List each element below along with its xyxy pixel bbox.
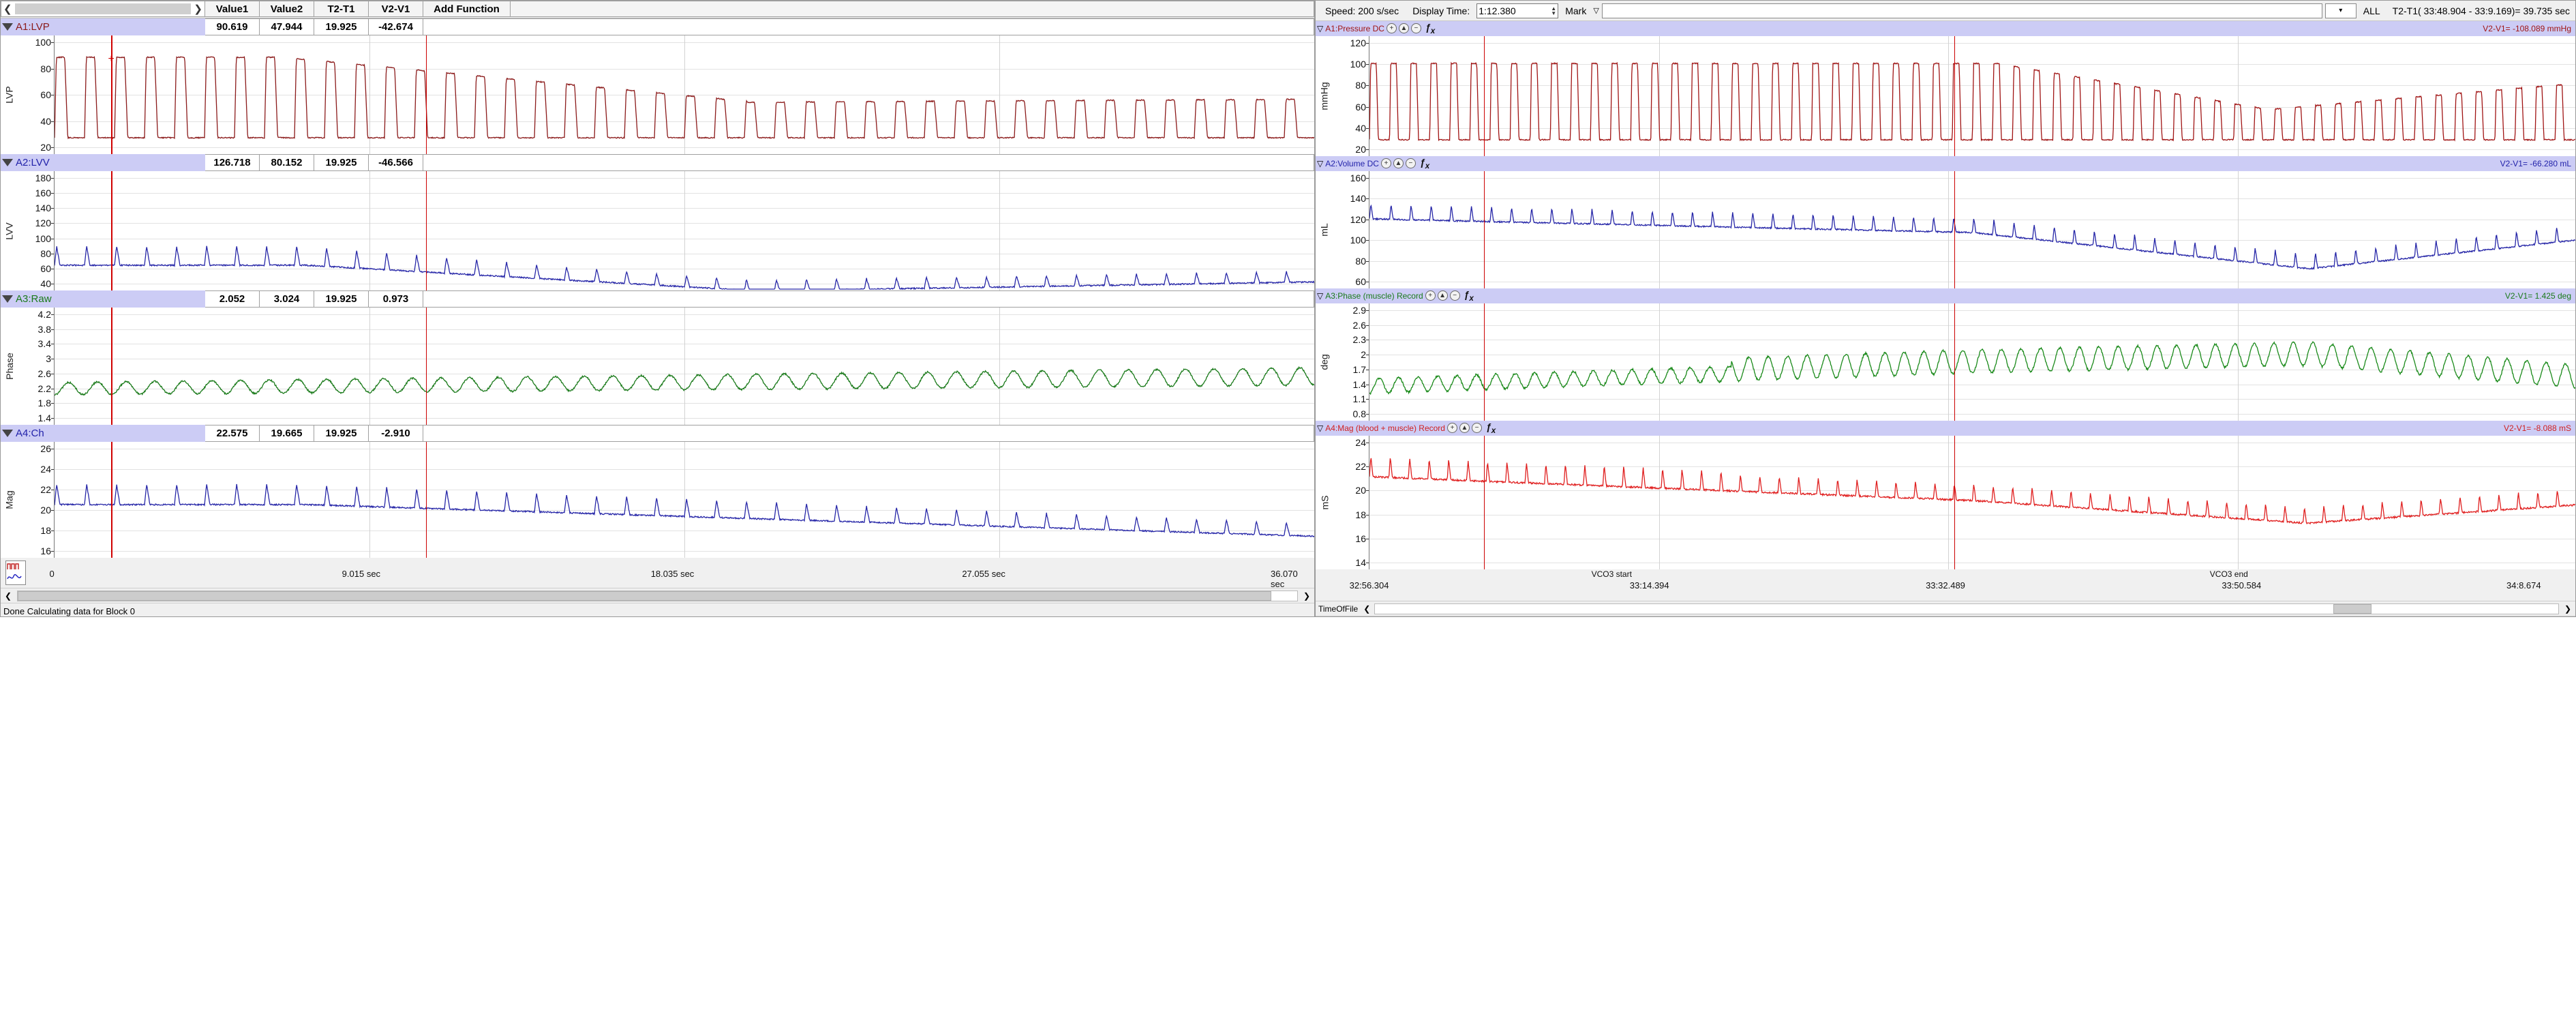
plot-row: mS242220181614 [1316,436,2575,569]
x-tick-label: 32:56.304 [1350,580,1389,591]
waveform-canvas[interactable] [54,171,1314,290]
a1-value1: 90.619 [205,18,260,35]
collapse-triangle-icon[interactable]: ▽ [1317,24,1323,33]
right-a2-v2v1: V2-V1= -66.280 mL [2500,159,2575,168]
y-axis-label: deg [1316,303,1333,421]
left-horizontal-scrollbar[interactable]: ❮ ❯ [1,588,1314,603]
channel-name-a2[interactable]: A2:LVV [1,154,205,171]
collapse-triangle-icon[interactable] [2,23,13,31]
waveform-trace [55,308,1314,425]
a3-t2t1: 19.925 [314,290,369,308]
display-time-input[interactable]: 1:12.380 ▲▼ [1476,3,1558,18]
plot-row: LVV180160140120100806040 [1,171,1314,290]
collapse-triangle-icon[interactable]: ▽ [1317,159,1323,168]
x-tick-label: 27.055 sec [962,569,1005,579]
waveform-trace [1369,436,2575,569]
channel-value-row-a4: A4:Ch 22.575 19.665 19.925 -2.910 [1,425,1314,442]
column-header-t2t1[interactable]: T2-T1 [314,1,369,17]
a2-row-filler [423,154,1314,171]
y-tick-label: 18 [40,525,51,536]
y-tick-label: 20 [40,142,51,153]
y-tick-label: 160 [1350,173,1366,183]
waveform-canvas[interactable] [1369,436,2575,569]
y-axis-ticks: 262422201816 [18,442,54,558]
waveform-canvas[interactable] [1369,171,2575,288]
x-tick-label: 34:8.674 [2506,580,2541,591]
measurement-cursor[interactable] [111,442,112,558]
function-icon[interactable]: ƒx [1484,421,1498,435]
y-tick-label: 100 [1350,59,1366,70]
x-tick-label: 9.015 sec [342,569,380,579]
y-tick-label: 0.8 [1353,408,1366,419]
y-tick-label: 2.6 [38,368,51,379]
measurement-cursor[interactable] [1954,303,1955,421]
measurement-cursor[interactable] [1484,171,1485,288]
a1-v2v1: -42.674 [369,18,423,35]
left-acquisition-window: ❮ ❯ Value1 Value2 T2-T1 V2-V1 Add Functi… [0,0,1315,617]
y-tick-label: 60 [1355,102,1366,113]
channel-name-a4[interactable]: A4:Ch [1,425,205,442]
t2-t1-readout: T2-T1( 33:48.904 - 33:9.169)= 39.735 sec [2387,5,2575,16]
plot-row: deg2.92.62.321.71.41.10.8 [1316,303,2575,421]
collapse-triangle-icon[interactable] [2,430,13,437]
y-tick-label: 2 [1361,349,1366,360]
right-channel-name-a1[interactable]: ▽ A1:Pressure DC + ▲ − ƒx [1316,22,1437,35]
measurement-cursor[interactable] [426,35,427,154]
plot-row: LVP10080604020+ [1,35,1314,154]
acquisition-windows: ❮ ❯ Value1 Value2 T2-T1 V2-V1 Add Functi… [0,0,2576,617]
y-tick-label: 1.1 [1353,393,1366,404]
measurement-cursor[interactable] [426,442,427,558]
chevron-left-icon[interactable]: ❮ [1,591,16,601]
a4-value2: 19.665 [260,425,314,442]
collapse-triangle-icon[interactable] [2,295,13,303]
y-tick-label: 80 [1355,256,1366,267]
a1-t2t1: 19.925 [314,18,369,35]
waveform-trace [55,442,1314,558]
y-tick-label: 80 [40,63,51,74]
channel-value-row-a3: A3:Raw 2.052 3.024 19.925 0.973 [1,290,1314,308]
y-axis-ticks: 10080604020 [18,35,54,154]
results-tables: SWINE assessment of IVCO quality (N=7)Me… [0,617,2576,1031]
column-header-value2[interactable]: Value2 [260,1,314,17]
time-annotation: VCO3 start [1592,569,1632,579]
left-status-bar: Done Calculating data for Block 0 [1,603,1314,617]
waveform-trace [1369,303,2575,421]
left-time-labels: 09.015 sec18.035 sec27.055 sec36.070 sec [31,558,1314,585]
measurement-cursor[interactable] [426,171,427,290]
display-time-value: 1:12.380 [1479,5,1516,16]
right-acquisition-window: Speed: 200 s/sec Display Time: 1:12.380 … [1315,0,2576,617]
y-tick-label: 24 [40,464,51,475]
right-plot-a1[interactable]: mmHg12010080604020 [1316,36,2575,156]
y-tick-label: 120 [1350,38,1366,48]
right-plot-a4[interactable]: mS242220181614 [1316,436,2575,569]
y-tick-label: 4.2 [38,309,51,320]
channel-name-a1[interactable]: A1:LVP [1,18,205,35]
zoom-out-icon[interactable]: − [1411,23,1421,33]
a2-value2: 80.152 [260,154,314,171]
display-time-label: Display Time: [1406,5,1476,16]
a2-value1: 126.718 [205,154,260,171]
y-tick-label: 140 [35,203,51,213]
y-tick-label: 18 [1355,509,1366,520]
zoom-in-icon[interactable]: + [1381,158,1391,168]
y-tick-label: 60 [40,263,51,274]
all-label: ALL [2357,5,2387,16]
y-tick-label: 60 [1355,276,1366,287]
measurement-cursor[interactable] [1954,436,1955,569]
x-tick-label: 18.035 sec [651,569,695,579]
y-tick-label: 3 [46,353,51,364]
zoom-out-icon[interactable]: − [1472,423,1482,433]
y-tick-label: 100 [35,37,51,48]
plot-row: mmHg12010080604020 [1316,36,2575,156]
y-axis-ticks: 1601401201008060 [1333,171,1369,288]
x-tick-label: 0 [50,569,55,579]
spinner-arrows-icon[interactable]: ▲▼ [1551,6,1556,16]
waveform-canvas[interactable]: + [54,35,1314,154]
plot-row: Mag262422201816 [1,442,1314,558]
x-tick-label: 36.070 sec [1271,569,1298,589]
y-tick-label: 24 [1355,437,1366,448]
y-tick-label: 60 [40,89,51,100]
right-channel-name-a3[interactable]: ▽ A3:Phase (muscle) Record + ▲ − ƒx [1316,289,1476,303]
y-tick-label: 26 [40,443,51,454]
right-channel-header-a2[interactable]: ▽ A2:Volume DC + ▲ − ƒx V2-V1= -66.280 m… [1316,156,2575,171]
cursor-marker-icon: + [108,54,114,65]
y-tick-label: 3.4 [38,338,51,349]
zoom-out-icon[interactable]: − [1450,290,1460,301]
waveform-canvas[interactable] [1369,303,2575,421]
y-tick-label: 100 [1350,235,1366,245]
left-scroll-track[interactable] [17,591,1298,601]
waveform-trace [55,171,1314,290]
y-axis-label: mL [1316,171,1333,288]
a1-value2: 47.944 [260,18,314,35]
y-tick-label: 22 [40,484,51,495]
measurement-cursor[interactable] [1954,171,1955,288]
waveform-trace [1369,171,2575,288]
y-axis-ticks: 180160140120100806040 [18,171,54,290]
a4-value1: 22.575 [205,425,260,442]
channel-name-a3[interactable]: A3:Raw [1,290,205,308]
channel-scroll-control[interactable]: ❮ ❯ [1,1,205,17]
y-tick-label: 2.9 [1353,305,1366,316]
a2-v2v1: -46.566 [369,154,423,171]
left-plot-a1[interactable]: LVP10080604020+ [1,35,1314,154]
waveform-trace [1369,36,2575,156]
a4-v2v1: -2.910 [369,425,423,442]
measurement-cursor[interactable] [1484,303,1485,421]
a3-value1: 2.052 [205,290,260,308]
right-a1-v2v1: V2-V1= -108.089 mmHg [2483,24,2575,33]
plot-row: mL1601401201008060 [1316,171,2575,288]
y-tick-label: 2.2 [38,383,51,394]
autoscale-icon[interactable]: ▲ [1438,290,1448,301]
y-tick-label: 2.3 [1353,334,1366,345]
y-tick-label: 80 [1355,80,1366,91]
autoscale-icon[interactable]: ▲ [1399,23,1409,33]
y-tick-label: 16 [40,546,51,556]
y-tick-label: 1.4 [1353,379,1366,390]
waveform-canvas[interactable] [54,308,1314,425]
x-tick-label: 33:50.584 [2222,580,2261,591]
y-tick-label: 22 [1355,461,1366,472]
function-icon[interactable]: ƒx [1462,289,1476,303]
y-axis-label: mmHg [1316,36,1333,156]
y-tick-label: 3.8 [38,324,51,335]
y-tick-label: 80 [40,248,51,259]
channel-value-row-a2: A2:LVV 126.718 80.152 19.925 -46.566 [1,154,1314,171]
right-channel-header-a4[interactable]: ▽ A4:Mag (blood + muscle) Record + ▲ − ƒ… [1316,421,2575,436]
y-tick-label: 20 [1355,485,1366,496]
scroll-thumb[interactable] [15,3,192,14]
left-plot-a4[interactable]: Mag262422201816 [1,442,1314,558]
y-axis-ticks: 12010080604020 [1333,36,1369,156]
y-tick-label: 1.8 [38,398,51,408]
column-header-value1[interactable]: Value1 [205,1,260,17]
a2-t2t1: 19.925 [314,154,369,171]
right-channel-header-a3[interactable]: ▽ A3:Phase (muscle) Record + ▲ − ƒx V2-V… [1316,288,2575,303]
chevron-right-icon[interactable]: ❯ [2560,604,2575,614]
right-toolbar: Speed: 200 s/sec Display Time: 1:12.380 … [1316,1,2575,21]
y-axis-ticks: 242220181614 [1333,436,1369,569]
right-channel-name-a2[interactable]: ▽ A2:Volume DC + ▲ − ƒx [1316,157,1431,170]
autoscale-icon[interactable]: ▲ [1459,423,1470,433]
right-a3-v2v1: V2-V1= 1.425 deg [2505,291,2575,301]
x-tick-label: 33:32.489 [1926,580,1965,591]
y-tick-label: 2.6 [1353,320,1366,331]
channel-value-row-a1: A1:LVP 90.619 47.944 19.925 -42.674 [1,18,1314,35]
right-channel-name-a4[interactable]: ▽ A4:Mag (blood + muscle) Record + ▲ − ƒ… [1316,421,1498,435]
y-tick-label: 1.7 [1353,364,1366,375]
right-plot-a2[interactable]: mL1601401201008060 [1316,171,2575,288]
chevron-right-icon[interactable]: ❯ [194,4,202,14]
a4-row-filler [423,425,1314,442]
measurement-cursor[interactable] [1954,36,1955,156]
mark-label: Mark [1558,5,1593,16]
measurement-cursor[interactable] [111,308,112,425]
y-tick-label: 40 [1355,123,1366,134]
left-status-text: Done Calculating data for Block 0 [3,606,135,616]
zoom-in-icon[interactable]: + [1387,23,1397,33]
right-scroll-track[interactable] [1374,603,2559,614]
zoom-out-icon[interactable]: − [1406,158,1416,168]
measurement-cursor[interactable] [1484,36,1485,156]
autoscale-icon[interactable]: ▲ [1393,158,1404,168]
y-tick-label: 40 [40,116,51,127]
y-tick-label: 40 [40,278,51,289]
chevron-down-icon[interactable]: ▽ [1593,6,1598,15]
a3-v2v1: 0.973 [369,290,423,308]
y-axis-label: mS [1316,436,1333,569]
chevron-left-icon[interactable]: ❮ [3,4,12,14]
right-horizontal-scrollbar[interactable]: TimeOfFile ❮ ❯ [1316,601,2575,616]
left-plot-a2[interactable]: LVV180160140120100806040 [1,171,1314,290]
function-icon[interactable]: ƒx [1418,157,1431,170]
y-axis-label: LVV [1,171,18,290]
zoom-in-icon[interactable]: + [1447,423,1457,433]
y-axis-label: Mag [1,442,18,558]
a1-row-filler [423,18,1314,35]
y-axis-ticks: 4.23.83.432.62.21.81.4 [18,308,54,425]
function-icon[interactable]: ƒx [1423,22,1437,35]
right-time-axis: 32:56.30433:14.39433:32.48933:50.58434:8… [1316,569,2575,601]
y-axis-label: LVP [1,35,18,154]
plot-row: Phase4.23.83.432.62.21.81.4 [1,308,1314,425]
waveform-trace [55,35,1314,154]
mark-input[interactable] [1602,3,2322,18]
right-channel-header-a1[interactable]: ▽ A1:Pressure DC + ▲ − ƒx V2-V1= -108.08… [1316,21,2575,36]
time-of-file-label: TimeOfFile [1316,604,1361,614]
left-function-toolbar: ❮ ❯ Value1 Value2 T2-T1 V2-V1 Add Functi… [1,1,1314,18]
right-scroll-thumb[interactable] [2333,604,2372,614]
a3-row-filler [423,290,1314,308]
y-tick-label: 16 [1355,533,1366,544]
y-tick-label: 160 [35,188,51,198]
chevron-right-icon[interactable]: ❯ [1299,591,1314,601]
zoom-in-icon[interactable]: + [1425,290,1436,301]
toolbar-filler [511,1,1314,17]
column-header-v2v1[interactable]: V2-V1 [369,1,423,17]
right-a4-v2v1: V2-V1= -8.088 mS [2504,423,2575,433]
collapse-triangle-icon[interactable]: ▽ [1317,291,1323,301]
collapse-triangle-icon[interactable]: ▽ [1317,423,1323,433]
measurement-cursor[interactable] [1484,436,1485,569]
add-function-button[interactable]: Add Function [423,1,511,17]
a4-t2t1: 19.925 [314,425,369,442]
y-tick-label: 120 [1350,214,1366,225]
measurement-cursor[interactable] [111,171,112,290]
waveform-canvas[interactable] [54,442,1314,558]
measurement-cursor[interactable] [426,308,427,425]
y-tick-label: 20 [1355,144,1366,155]
collapse-triangle-icon[interactable] [2,159,13,166]
chevron-left-icon[interactable]: ❮ [1361,604,1373,614]
left-scroll-thumb[interactable] [18,591,1271,601]
y-axis-label: Phase [1,308,18,425]
left-plot-a3[interactable]: Phase4.23.83.432.62.21.81.4 [1,308,1314,425]
left-time-axis-row: 09.015 sec18.035 sec27.055 sec36.070 sec [1,558,1314,588]
time-annotation: VCO3 end [2210,569,2248,579]
y-tick-label: 100 [35,233,51,244]
y-tick-label: 140 [1350,193,1366,204]
y-tick-label: 1.4 [38,413,51,423]
waveform-canvas[interactable] [1369,36,2575,156]
right-plot-a3[interactable]: deg2.92.62.321.71.41.10.8 [1316,303,2575,421]
speed-label: Speed: 200 s/sec [1318,5,1406,16]
waveform-icon[interactable] [5,561,26,585]
y-tick-label: 20 [40,505,51,515]
y-axis-ticks: 2.92.62.321.71.41.10.8 [1333,303,1369,421]
y-tick-label: 120 [35,218,51,228]
x-tick-label: 33:14.394 [1630,580,1669,591]
y-tick-label: 180 [35,173,51,183]
a3-value2: 3.024 [260,290,314,308]
all-dropdown[interactable]: ▾ [2325,3,2357,18]
y-tick-label: 14 [1355,557,1366,568]
